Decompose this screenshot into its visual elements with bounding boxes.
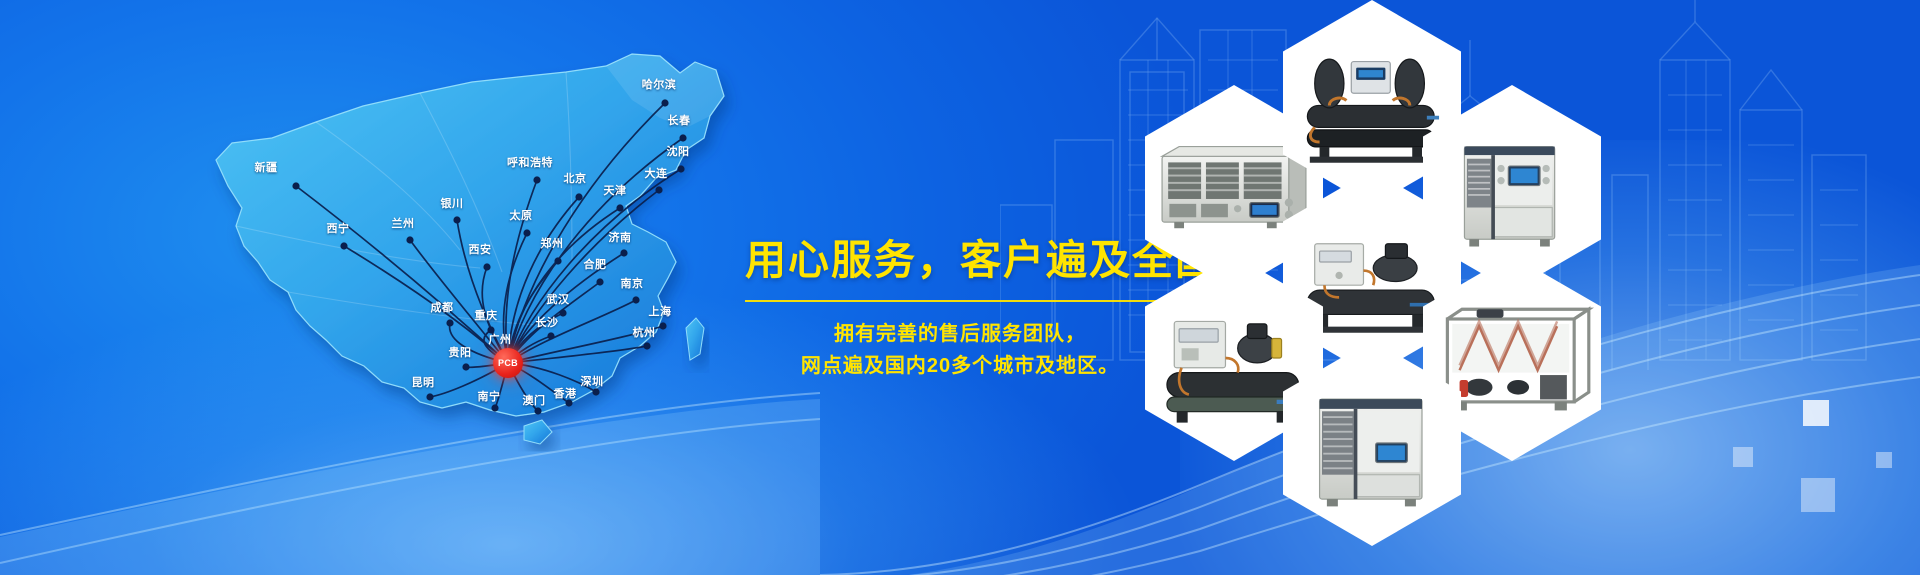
- city-dot[interactable]: [533, 176, 540, 183]
- city-dot[interactable]: [523, 229, 530, 236]
- city-label: 太原: [510, 207, 533, 223]
- city-dot[interactable]: [547, 332, 554, 339]
- city-label: 济南: [609, 229, 632, 245]
- city-label: 重庆: [475, 307, 498, 323]
- city-dot[interactable]: [559, 309, 566, 316]
- city-label: 武汉: [547, 291, 570, 307]
- city-label: 天津: [604, 182, 627, 198]
- city-dot[interactable]: [679, 134, 686, 141]
- city-label: 合肥: [584, 256, 607, 272]
- decor-square: [1876, 452, 1892, 468]
- city-label: 大连: [645, 165, 668, 181]
- city-label-guangzhou: 广州: [489, 331, 512, 347]
- city-label: 成都: [431, 299, 454, 315]
- banner-headline: 用心服务，客户遍及全国: [745, 238, 1175, 283]
- city-dot[interactable]: [643, 342, 650, 349]
- city-dot[interactable]: [620, 249, 627, 256]
- city-dot[interactable]: [655, 186, 662, 193]
- city-label: 长春: [668, 112, 691, 128]
- city-dot[interactable]: [446, 319, 453, 326]
- city-dot[interactable]: [426, 393, 433, 400]
- city-dot[interactable]: [453, 216, 460, 223]
- city-label: 新疆: [255, 159, 278, 175]
- china-map-shape: [120, 10, 820, 570]
- city-dot[interactable]: [596, 278, 603, 285]
- city-label: 沈阳: [667, 143, 690, 159]
- city-dot[interactable]: [592, 388, 599, 395]
- city-label: 西安: [469, 241, 492, 257]
- city-label: 南京: [621, 275, 644, 291]
- city-label: 南宁: [478, 388, 501, 404]
- city-dot[interactable]: [575, 193, 582, 200]
- hub-marker-guangzhou[interactable]: PCB: [493, 348, 523, 378]
- city-label: 哈尔滨: [642, 76, 677, 92]
- banner-subtitle-line2: 网点遍及国内20多个城市及地区。: [745, 350, 1175, 382]
- city-dot[interactable]: [661, 99, 668, 106]
- decor-square: [1733, 447, 1753, 467]
- decor-square: [1801, 478, 1835, 512]
- city-label: 香港: [554, 385, 577, 401]
- city-label: 兰州: [392, 215, 415, 231]
- headline-divider: [745, 300, 1175, 302]
- city-label: 银川: [441, 195, 464, 211]
- city-dot[interactable]: [534, 407, 541, 414]
- city-dot[interactable]: [483, 263, 490, 270]
- city-dot[interactable]: [677, 165, 684, 172]
- city-label: 长沙: [536, 314, 559, 330]
- banner-subtitle-line1: 拥有完善的售后服务团队，: [745, 318, 1175, 350]
- city-label: 西宁: [327, 220, 350, 236]
- city-dot[interactable]: [340, 242, 347, 249]
- hub-badge-text: PCB: [498, 358, 518, 368]
- city-label: 呼和浩特: [507, 154, 553, 170]
- china-distribution-map: 新疆西宁兰州银川呼和浩特北京天津太原西安郑州合肥南京上海杭州武汉长沙成都重庆贵阳…: [120, 10, 820, 570]
- decor-square: [1803, 400, 1829, 426]
- city-dot[interactable]: [616, 204, 623, 211]
- city-label: 北京: [564, 170, 587, 186]
- city-label: 深圳: [581, 373, 604, 389]
- city-dot[interactable]: [659, 322, 666, 329]
- city-dot[interactable]: [462, 363, 469, 370]
- city-label: 澳门: [523, 392, 546, 408]
- city-label: 昆明: [412, 374, 435, 390]
- city-dot[interactable]: [491, 404, 498, 411]
- banner-copy: 用心服务，客户遍及全国 拥有完善的售后服务团队， 网点遍及国内20多个城市及地区…: [745, 238, 1175, 383]
- city-dot[interactable]: [406, 236, 413, 243]
- city-dot[interactable]: [554, 257, 561, 264]
- city-label: 郑州: [541, 235, 564, 251]
- city-label: 杭州: [633, 324, 656, 340]
- product-hex-grid: [1145, 0, 1745, 575]
- city-dot[interactable]: [632, 296, 639, 303]
- city-label: 贵阳: [449, 344, 472, 360]
- city-label: 上海: [649, 303, 672, 319]
- promo-banner: 新疆西宁兰州银川呼和浩特北京天津太原西安郑州合肥南京上海杭州武汉长沙成都重庆贵阳…: [0, 0, 1920, 575]
- city-dot[interactable]: [292, 182, 299, 189]
